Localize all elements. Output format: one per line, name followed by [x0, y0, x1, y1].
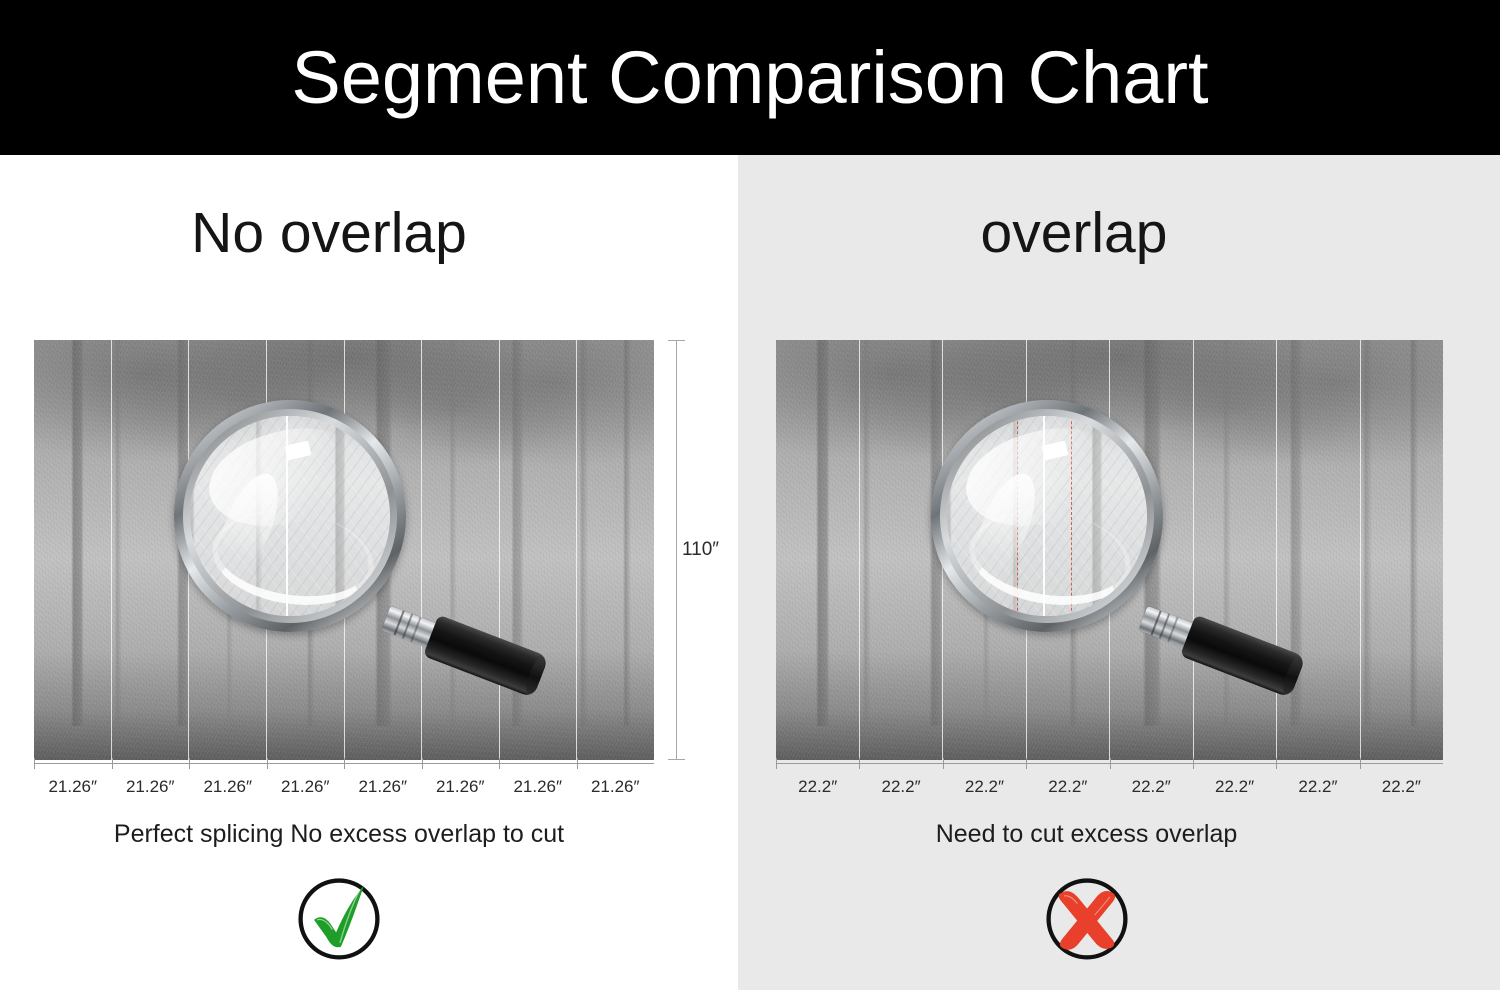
segment-label: 22.2″ — [1360, 763, 1443, 803]
mural-seam — [112, 340, 190, 760]
segment-label: 22.2″ — [1110, 763, 1193, 803]
segment-label: 21.26″ — [344, 763, 422, 803]
mural-seam — [860, 340, 944, 760]
caption-overlap: Need to cut excess overlap — [738, 820, 1500, 849]
mural-seam — [1194, 340, 1278, 760]
segment-label: 21.26″ — [499, 763, 577, 803]
segment-label: 21.26″ — [577, 763, 655, 803]
segment-label: 21.26″ — [34, 763, 112, 803]
mural-seam — [577, 340, 654, 760]
magnifier-lens — [190, 416, 390, 616]
dimension-cap-bottom — [668, 759, 685, 760]
verdict-overlap — [738, 870, 1500, 966]
dimension-line — [676, 340, 677, 760]
segment-label: 22.2″ — [859, 763, 942, 803]
mural-no-overlap — [34, 340, 654, 760]
mural-seam — [776, 340, 860, 760]
panel-heading-overlap: overlap — [738, 205, 1500, 262]
segment-width-ruler-no-overlap: 21.26″ 21.26″ 21.26″ 21.26″ 21.26″ 21.26… — [34, 763, 654, 803]
mural-seam — [422, 340, 500, 760]
caption-no-overlap: Perfect splicing No excess overlap to cu… — [0, 820, 738, 849]
segment-label: 22.2″ — [1193, 763, 1276, 803]
segment-label: 21.26″ — [422, 763, 500, 803]
panel-no-overlap: No overlap — [0, 155, 738, 990]
segment-label: 21.26″ — [112, 763, 190, 803]
segment-label: 21.26″ — [189, 763, 267, 803]
height-dimension-no-overlap: 110″ — [668, 340, 738, 760]
segment-label: 22.2″ — [1026, 763, 1109, 803]
red-cross-icon — [1039, 870, 1135, 966]
title-banner: Segment Comparison Chart — [0, 0, 1500, 155]
mural-seam — [500, 340, 578, 760]
magnifier-ring — [174, 400, 406, 632]
mural-overlap — [776, 340, 1443, 760]
magnifier-lens — [947, 416, 1147, 616]
segment-label: 22.2″ — [943, 763, 1026, 803]
segment-label: 22.2″ — [1276, 763, 1359, 803]
panel-heading-no-overlap: No overlap — [0, 205, 738, 262]
page-title: Segment Comparison Chart — [291, 41, 1208, 115]
segment-width-ruler-overlap: 22.2″ 22.2″ 22.2″ 22.2″ 22.2″ 22.2″ 22.2… — [776, 763, 1443, 803]
mural-seam — [1361, 340, 1444, 760]
green-check-icon — [291, 870, 387, 966]
mural-seam — [34, 340, 112, 760]
mural-seam — [1277, 340, 1361, 760]
verdict-no-overlap — [0, 870, 738, 966]
segment-label: 21.26″ — [267, 763, 345, 803]
comparison-chart-page: Segment Comparison Chart No overlap — [0, 0, 1500, 990]
height-label: 110″ — [682, 539, 719, 561]
segment-label: 22.2″ — [776, 763, 859, 803]
panel-overlap: overlap — [738, 155, 1500, 990]
magnifier-ring — [931, 400, 1163, 632]
